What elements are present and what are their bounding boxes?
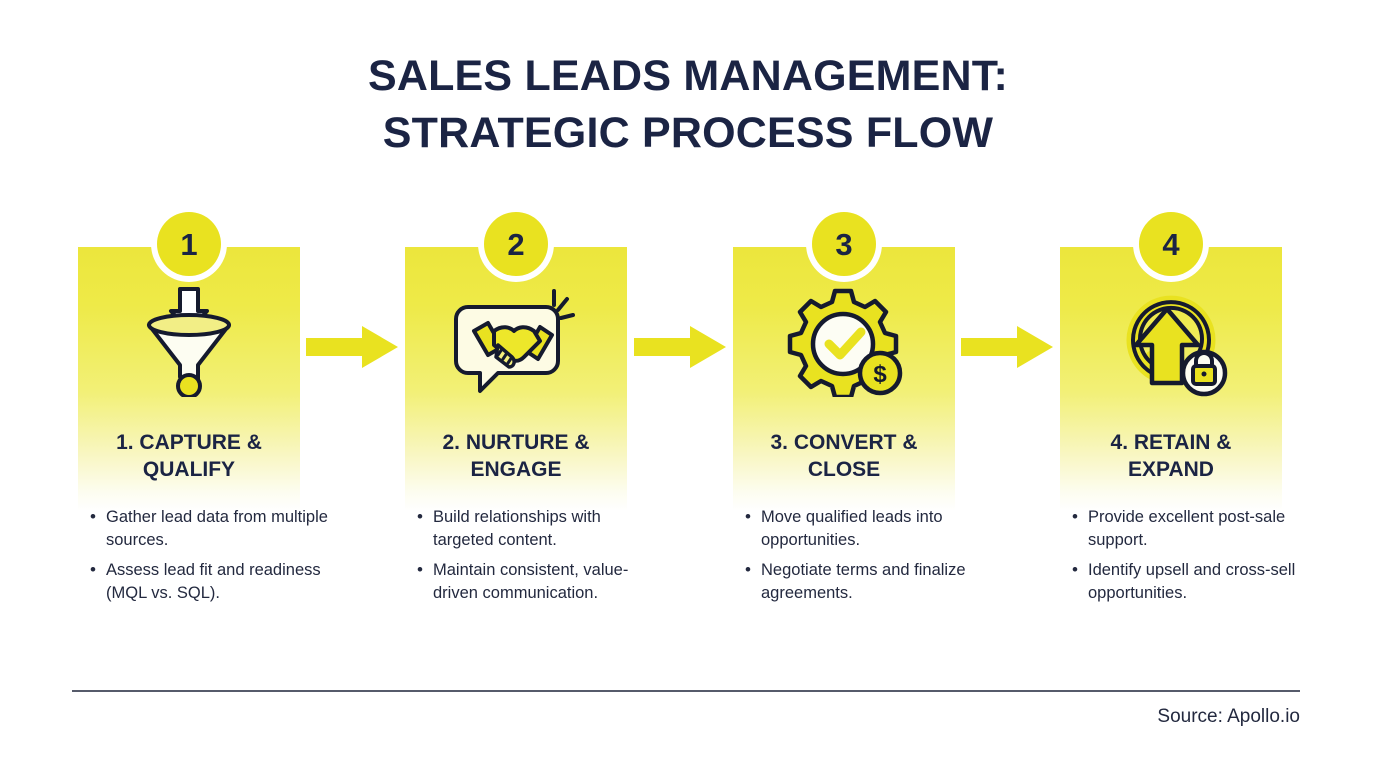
list-item: Maintain consistent, value-driven commun… <box>433 559 659 606</box>
step-1-badge: 1 <box>151 206 227 282</box>
step-3-badge: 3 <box>806 206 882 282</box>
step-card-3: 3 $ 3. CONVERT & CLOSE Move qualified l <box>733 206 955 656</box>
step-2-number: 2 <box>484 212 548 276</box>
handshake-speech-bubble-icon <box>405 278 627 404</box>
step-4-heading: 4. RETAIN & EXPAND <box>1066 430 1276 484</box>
step-2-badge: 2 <box>478 206 554 282</box>
step-1-bullets: Gather lead data from multiple sources. … <box>84 506 332 612</box>
step-1-heading: 1. CAPTURE & QUALIFY <box>84 430 294 484</box>
step-4-badge: 4 <box>1133 206 1209 282</box>
list-item: Provide excellent post-sale support. <box>1088 506 1314 553</box>
list-item: Gather lead data from multiple sources. <box>106 506 332 553</box>
step-2-heading: 2. NURTURE & ENGAGE <box>411 430 621 484</box>
step-3-bullets: Move qualified leads into opportunities.… <box>739 506 987 612</box>
list-item: Negotiate terms and finalize agreements. <box>761 559 987 606</box>
page-title-line-2: STRATEGIC PROCESS FLOW <box>0 105 1376 162</box>
step-3-heading: 3. CONVERT & CLOSE <box>739 430 949 484</box>
list-item: Identify upsell and cross-sell opportuni… <box>1088 559 1314 606</box>
step-1-number: 1 <box>157 212 221 276</box>
step-3-number: 3 <box>812 212 876 276</box>
list-item: Build relationships with targeted conten… <box>433 506 659 553</box>
process-steps: 1 1. CAPTURE & QUALIFY Gather lead dat <box>78 206 1298 656</box>
source-attribution: Source: Apollo.io <box>72 706 1300 728</box>
step-card-4: 4 4. RETAIN & EXPAND <box>1060 206 1282 656</box>
page-title: SALES LEADS MANAGEMENT: STRATEGIC PROCES… <box>0 48 1376 162</box>
gear-check-dollar-icon: $ <box>733 278 955 404</box>
infographic-canvas: SALES LEADS MANAGEMENT: STRATEGIC PROCES… <box>0 0 1376 768</box>
footer-divider <box>72 690 1300 692</box>
list-item: Assess lead fit and readiness (MQL vs. S… <box>106 559 332 606</box>
page-title-line-1: SALES LEADS MANAGEMENT: <box>0 48 1376 105</box>
step-2-bullets: Build relationships with targeted conten… <box>411 506 659 612</box>
arrow-right-icon <box>634 324 726 370</box>
step-card-1: 1 1. CAPTURE & QUALIFY Gather lead dat <box>78 206 300 656</box>
growth-arrow-lock-icon <box>1060 278 1282 404</box>
step-4-number: 4 <box>1139 212 1203 276</box>
svg-text:$: $ <box>873 361 887 388</box>
step-4-bullets: Provide excellent post-sale support. Ide… <box>1066 506 1314 612</box>
arrow-right-icon <box>961 324 1053 370</box>
step-card-2: 2 <box>405 206 627 656</box>
funnel-icon <box>78 278 300 404</box>
list-item: Move qualified leads into opportunities. <box>761 506 987 553</box>
arrow-right-icon <box>306 324 398 370</box>
